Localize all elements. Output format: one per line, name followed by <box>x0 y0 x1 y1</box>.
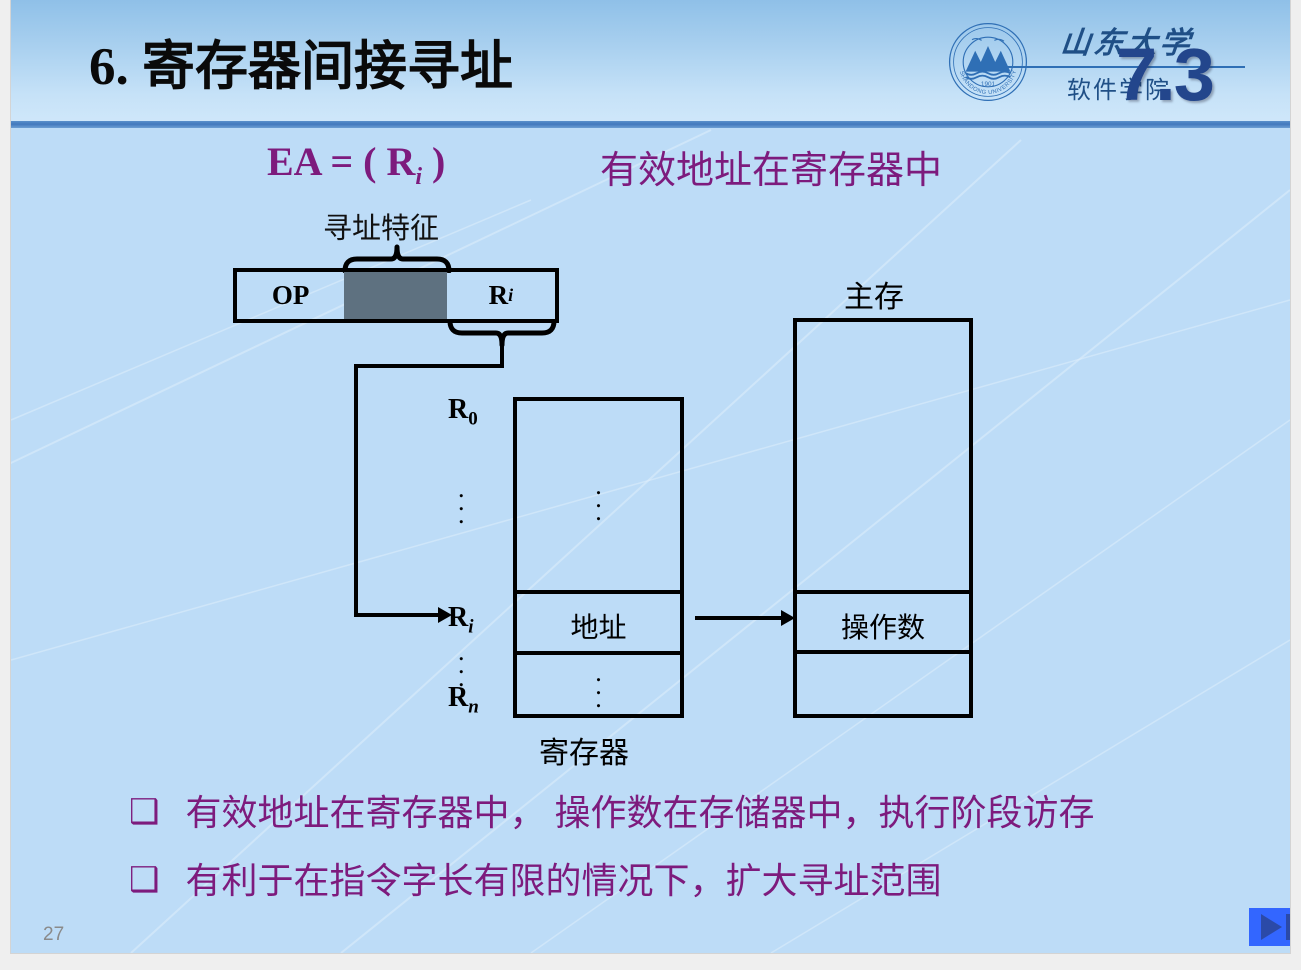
instruction-format-box: OP Ri <box>233 268 559 323</box>
memory-cell-operand: 操作数 <box>797 606 969 646</box>
register-file-caption: 寄存器 <box>539 728 629 772</box>
register-label-r0-sub: 0 <box>468 409 478 430</box>
bullet-item-2-text: 有利于在指令字长有限的情况下，扩大寻址范围 <box>185 858 941 904</box>
bullet-item-1-text: 有效地址在寄存器中， 操作数在存储器中，执行阶段访存 <box>185 790 1094 836</box>
chapter-number: 7.3 <box>1116 32 1213 117</box>
instruction-cell-opcode: OP <box>237 272 344 319</box>
register-label-ellipsis-bottom: ... <box>458 645 465 684</box>
instruction-cell-addressing-mode <box>344 272 446 319</box>
register-to-memory-arrow-line <box>695 616 785 620</box>
connector-segment-vertical-2 <box>354 364 358 617</box>
register-label-ri-sub: i <box>468 617 473 638</box>
bullet-marker-icon: ❑ <box>129 790 159 834</box>
ea-formula-note: 有效地址在寄存器中 <box>600 139 942 194</box>
register-cell-address: 地址 <box>517 606 680 646</box>
slide-canvas: 6. 寄存器间接寻址 1901 SHANDONG UNIVERSITY 山东大学… <box>11 0 1290 953</box>
ea-formula-suffix: ) <box>422 139 445 184</box>
memory-row-divider-1 <box>797 590 969 594</box>
skip-bar-icon <box>1286 914 1290 940</box>
instruction-cell-register-label: R <box>489 280 509 311</box>
header-divider <box>11 121 1290 128</box>
bullet-list: ❑ 有效地址在寄存器中， 操作数在存储器中，执行阶段访存 ❑ 有利于在指令字长有… <box>129 790 1279 926</box>
register-label-r0: R0 <box>448 394 478 431</box>
page-number: 27 <box>43 924 64 946</box>
shandong-university-seal-icon: 1901 SHANDONG UNIVERSITY <box>948 22 1028 102</box>
register-label-ri: Ri <box>448 602 474 639</box>
instruction-cell-register: Ri <box>447 272 555 319</box>
register-label-ellipsis-top: ... <box>458 482 465 521</box>
page-title: 6. 寄存器间接寻址 <box>89 24 513 100</box>
register-row-divider-2 <box>517 651 680 655</box>
register-row-divider-1 <box>517 590 680 594</box>
instruction-cell-opcode-label: OP <box>272 280 310 311</box>
memory-row-divider-2 <box>797 650 969 654</box>
register-cell-ellipsis-top: ... <box>517 479 680 528</box>
ea-formula: EA = ( Ri ) <box>267 138 445 191</box>
seal-year: 1901 <box>981 81 996 88</box>
bullet-item-1: ❑ 有效地址在寄存器中， 操作数在存储器中，执行阶段访存 <box>129 790 1279 836</box>
connector-segment-horizontal-2 <box>354 613 440 617</box>
register-label-r0-base: R <box>448 394 468 425</box>
register-label-rn-sub: n <box>468 697 479 718</box>
register-file-box: ... 地址 ... <box>513 397 684 718</box>
connector-segment-horizontal-1 <box>354 364 502 368</box>
main-memory-box: 操作数 <box>793 318 973 718</box>
slide-root: 6. 寄存器间接寻址 1901 SHANDONG UNIVERSITY 山东大学… <box>0 0 1301 970</box>
register-label-ri-base: R <box>448 602 468 633</box>
play-triangle-icon <box>1261 914 1282 940</box>
register-label-rn-base: R <box>448 682 468 713</box>
memory-caption: 主存 <box>844 272 904 316</box>
instruction-cell-register-subscript: i <box>508 285 513 306</box>
bullet-item-2: ❑ 有利于在指令字长有限的情况下，扩大寻址范围 <box>129 858 1279 904</box>
ea-formula-prefix: EA = ( R <box>267 139 415 184</box>
bullet-marker-icon: ❑ <box>129 858 159 902</box>
register-cell-ellipsis-bottom: ... <box>517 666 680 715</box>
next-slide-button[interactable] <box>1249 908 1290 946</box>
addressing-feature-label: 寻址特征 <box>323 205 439 247</box>
register-label-rn: Rn <box>448 682 479 719</box>
